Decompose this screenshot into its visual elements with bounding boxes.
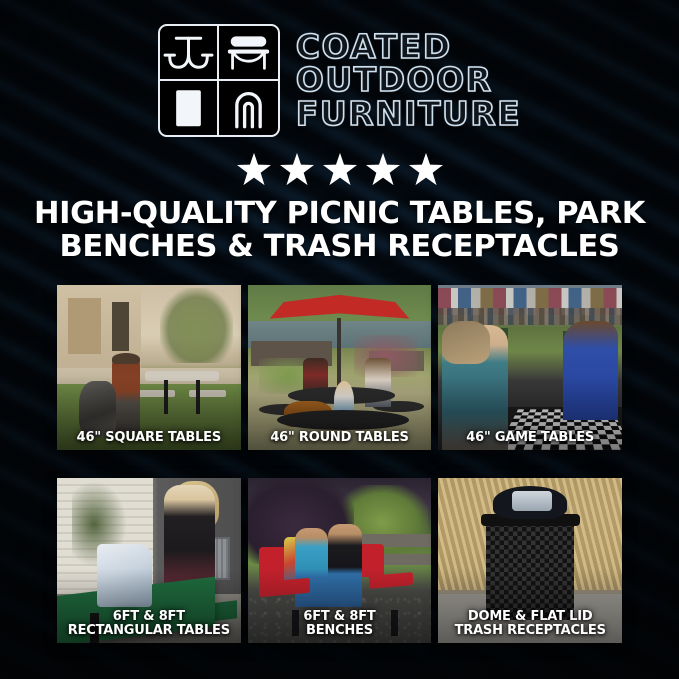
product-card-square-tables[interactable]: 46" SQUARE TABLES — [57, 285, 241, 450]
star-icon — [409, 152, 443, 186]
star-rating — [0, 152, 679, 186]
star-icon — [366, 152, 400, 186]
flat-lid-trash-receptacle-icon — [160, 81, 219, 136]
product-card-rectangular-tables[interactable]: 6FT & 8FT RECTANGULAR TABLES — [57, 478, 241, 643]
product-grid: 46" SQUARE TABLES 46" ROUND TABLES — [57, 285, 622, 643]
brand-name-line1: COATED — [296, 31, 521, 64]
coated-outdoor-furniture-logo-icon — [158, 24, 280, 137]
brand-name-line2: OUTDOOR — [296, 64, 521, 97]
game-tables-photo — [438, 285, 622, 450]
brand-name-line3: FURNITURE — [296, 98, 521, 131]
product-card-round-tables[interactable]: 46" ROUND TABLES — [248, 285, 432, 450]
star-icon — [237, 152, 271, 186]
square-tables-photo — [57, 285, 241, 450]
banner-root: COATED OUTDOOR FURNITURE HIGH-QUALITY PI… — [0, 0, 679, 679]
product-card-game-tables[interactable]: 46" GAME TABLES — [438, 285, 622, 450]
square-picnic-table-icon — [160, 26, 219, 81]
product-caption: 6FT & 8FT BENCHES — [252, 610, 428, 638]
product-caption: 46" GAME TABLES — [442, 431, 618, 445]
product-caption: DOME & FLAT LID TRASH RECEPTACLES — [442, 610, 618, 638]
product-caption: 46" ROUND TABLES — [252, 431, 428, 445]
headline-line-1: HIGH-QUALITY PICNIC TABLES, PARK — [34, 196, 645, 231]
round-tables-photo — [248, 285, 432, 450]
star-icon — [323, 152, 357, 186]
brand-logo: COATED OUTDOOR FURNITURE — [0, 24, 679, 137]
park-bench-icon — [219, 26, 278, 81]
star-icon — [280, 152, 314, 186]
page-title: HIGH-QUALITY PICNIC TABLES, PARK BENCHES… — [28, 198, 651, 264]
product-card-benches[interactable]: 6FT & 8FT BENCHES — [248, 478, 432, 643]
headline-line-2: BENCHES & TRASH RECEPTACLES — [28, 231, 651, 264]
product-card-trash-receptacles[interactable]: DOME & FLAT LID TRASH RECEPTACLES — [438, 478, 622, 643]
brand-wordmark: COATED OUTDOOR FURNITURE — [296, 31, 521, 131]
product-caption: 46" SQUARE TABLES — [61, 431, 237, 445]
dome-lid-trash-receptacle-icon — [219, 81, 278, 136]
product-caption: 6FT & 8FT RECTANGULAR TABLES — [61, 610, 237, 638]
